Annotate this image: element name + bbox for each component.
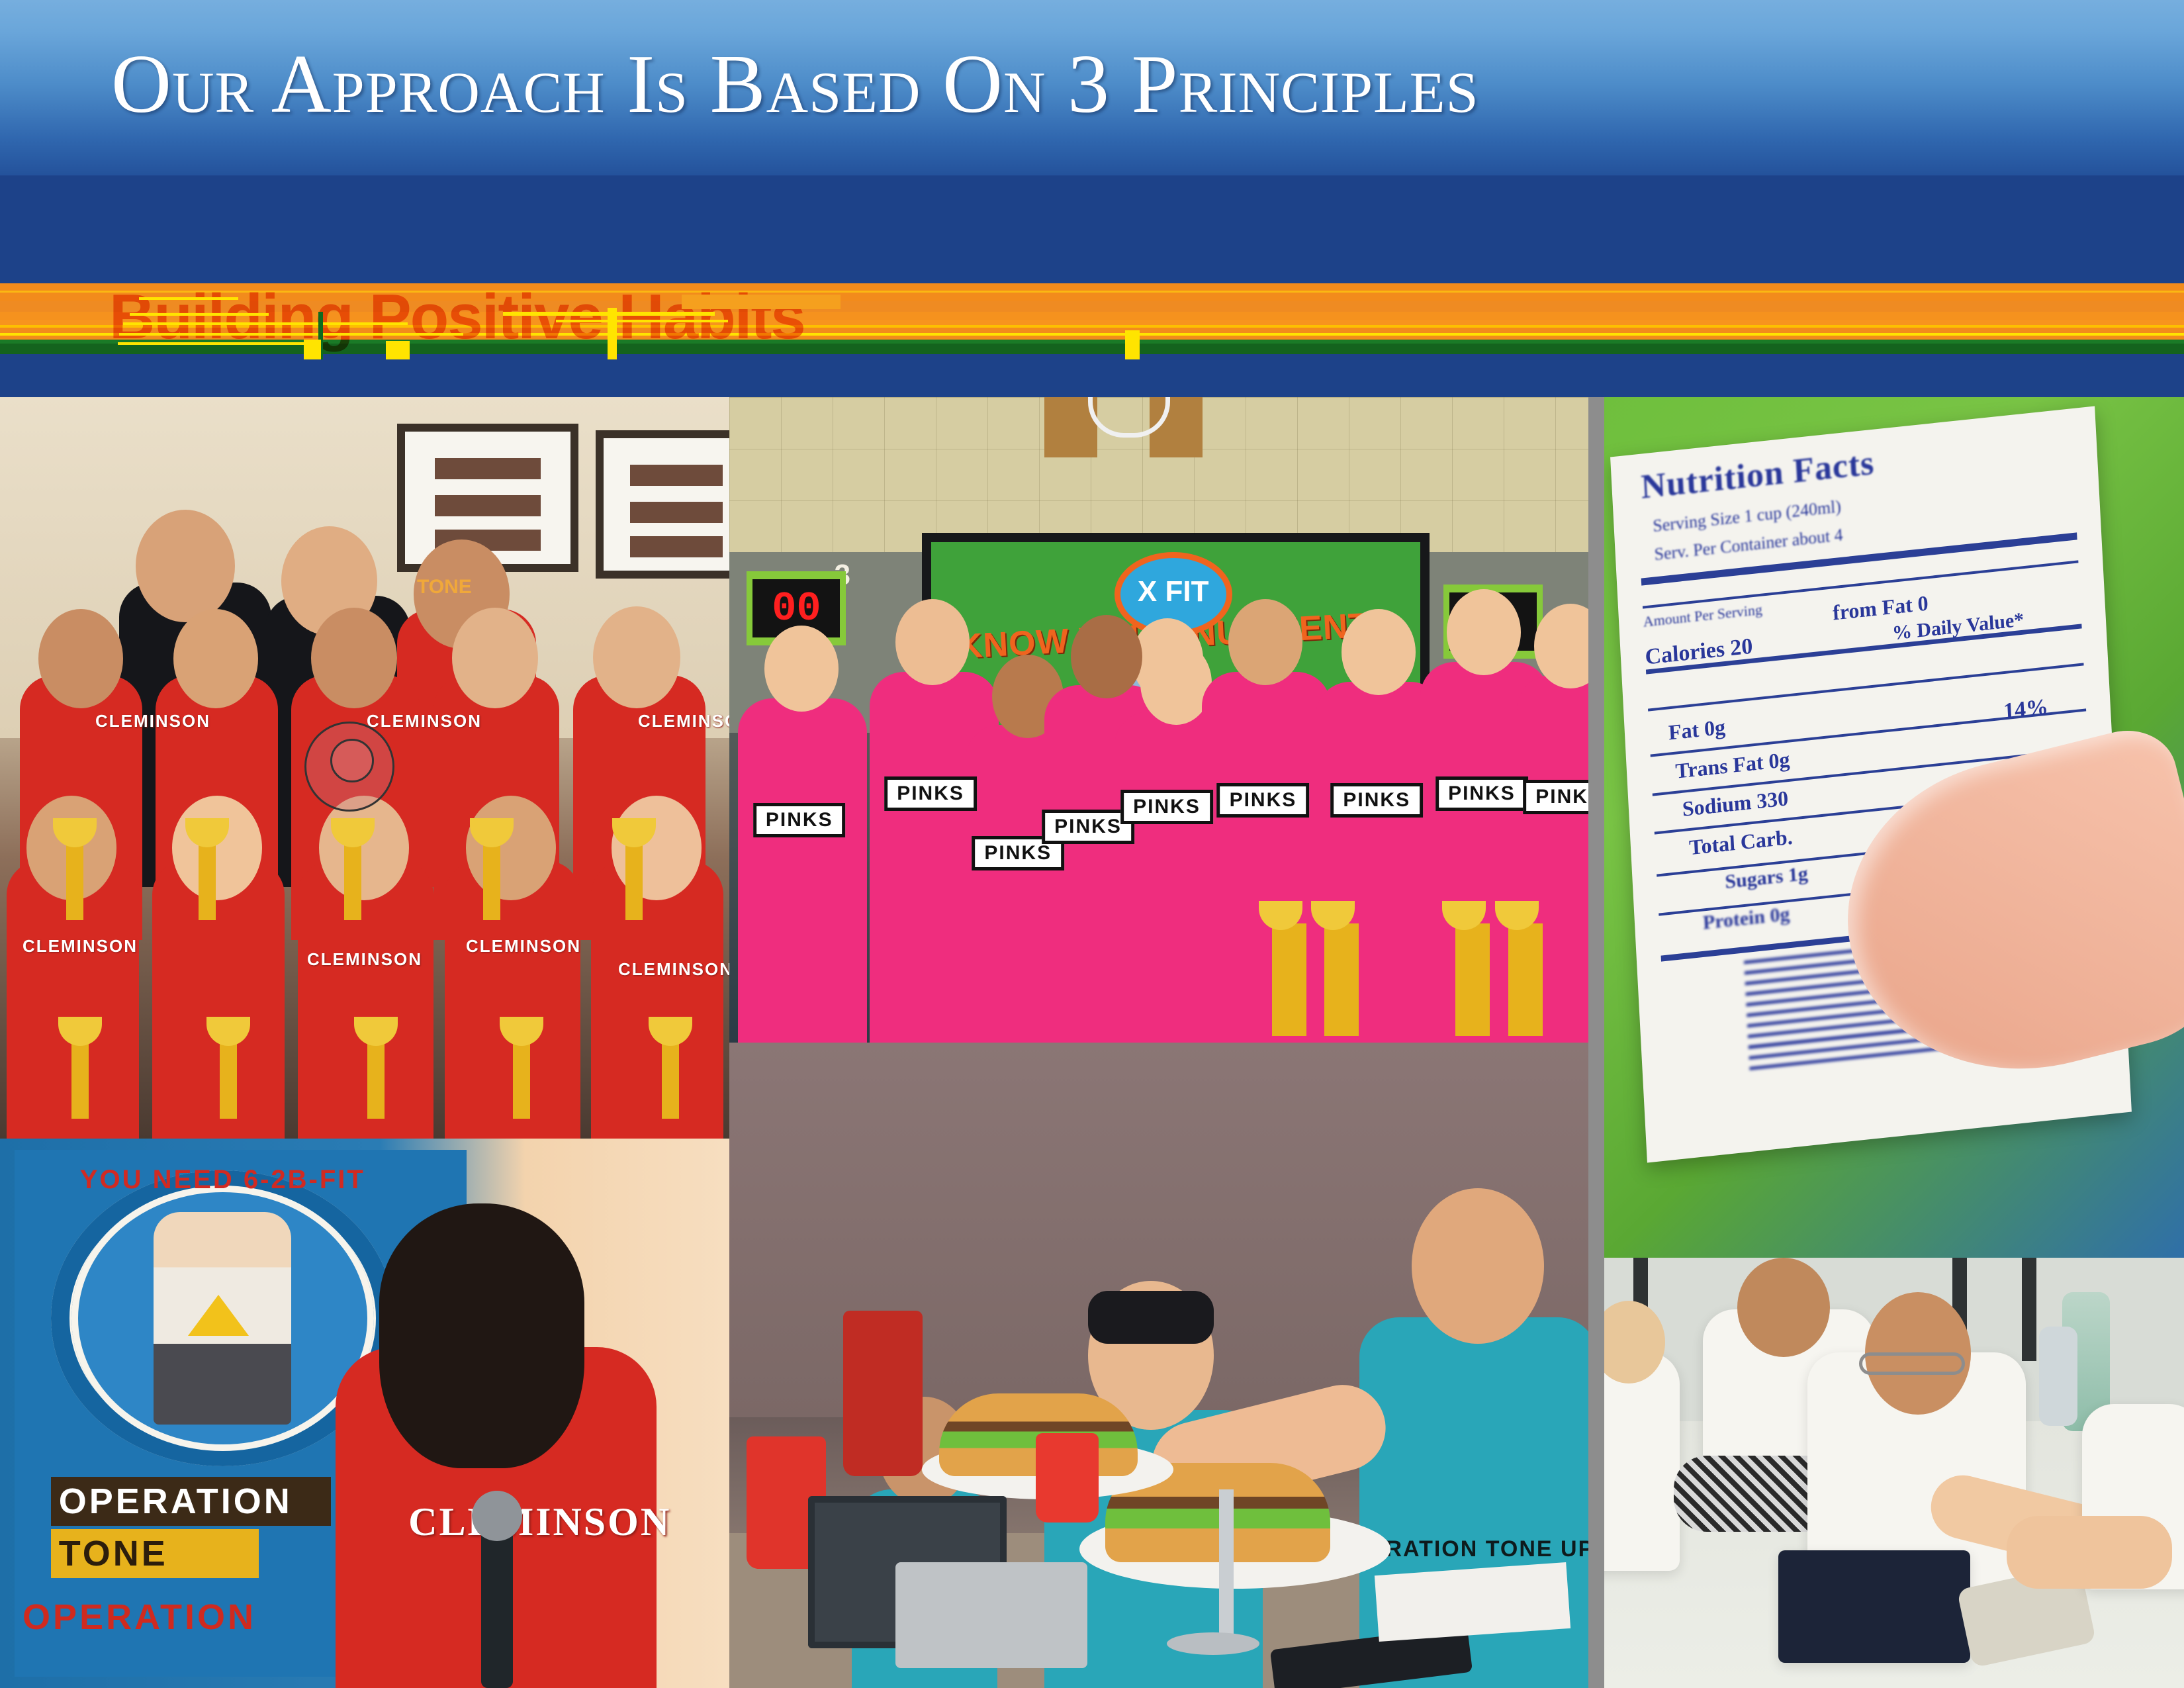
- student-head: [172, 796, 262, 900]
- table-leg: [2022, 1258, 2036, 1361]
- microphone-icon: [481, 1523, 513, 1688]
- scanline-artifact: [130, 313, 269, 316]
- trophy-icon: [483, 841, 500, 920]
- shirt-wordmark: PINKS: [884, 776, 977, 811]
- trophy-icon: [513, 1039, 530, 1119]
- trophy-icon: [1324, 923, 1359, 1036]
- student-head: [1342, 609, 1416, 695]
- trophy-icon: [625, 841, 643, 920]
- shirt-wordmark: PINKS: [753, 803, 846, 837]
- nutrition-row-label: Sodium 330: [1682, 786, 1789, 822]
- shirt-wordmark: CLEMINSON: [86, 708, 220, 734]
- adult-head: [136, 510, 235, 622]
- order-spindle-base: [1167, 1632, 1259, 1655]
- trophy-icon: [344, 841, 361, 920]
- student-leg: [2007, 1516, 2172, 1589]
- student-microphone-poster-photo: YOU NEED 6-2B-FIT OPERATION TONE OPERATI…: [0, 1139, 729, 1688]
- trophy-icon: [66, 841, 83, 920]
- student-head: [1412, 1188, 1544, 1344]
- student-shorts: [1778, 1550, 1970, 1663]
- student-figure: [152, 861, 285, 1139]
- nutrition-facts-label-photo: Nutrition Facts Serving Size 1 cup (240m…: [1604, 397, 2184, 1258]
- shirt-wordmark: CLEMINSON: [609, 957, 729, 982]
- framed-art: [596, 430, 729, 579]
- student-figure: [1604, 1352, 1680, 1571]
- student-head: [1447, 589, 1521, 675]
- student-figure: [1202, 672, 1331, 1043]
- scanline-artifact: [119, 333, 463, 336]
- slide-canvas: Our Approach Is Based On 3 Principles Bu…: [0, 0, 2184, 1688]
- shirt-wordmark: CLEMINSON: [408, 1499, 671, 1545]
- orange-block-artifact: [682, 295, 841, 309]
- trophy-icon: [199, 841, 216, 920]
- student-head: [452, 608, 538, 708]
- student-head: [311, 608, 397, 708]
- shirt-wordmark: PINKS: [1120, 790, 1213, 824]
- cleminson-awards-group-photo: CLEMINSON CLEMINSON CLEMINSON CLEMINSON …: [0, 397, 729, 1139]
- student-head: [173, 609, 258, 708]
- student-figure: [298, 861, 433, 1139]
- trophy-icon: [1272, 923, 1306, 1036]
- shirt-wordmark: CLEMINSON: [13, 933, 147, 959]
- poster-line-1: OPERATION: [51, 1477, 332, 1526]
- student-head: [895, 599, 970, 685]
- poster-arc-text: YOU NEED 6-2B-FIT: [51, 1165, 394, 1195]
- xfit-logo-text: X FIT: [1120, 575, 1226, 608]
- scanline-artifact: [118, 342, 316, 345]
- gym-stretching-photo: [1604, 1258, 2184, 1688]
- nutrition-row-label: Total Carb.: [1688, 825, 1793, 860]
- student-head: [38, 609, 123, 708]
- shirt-wordmark: PINKS: [1330, 783, 1423, 818]
- shirt-wordmark: PINKS: [1217, 783, 1310, 818]
- metal-bin: [895, 1562, 1087, 1668]
- photo-mosaic: CLEMINSON CLEMINSON CLEMINSON CLEMINSON …: [0, 397, 2184, 1688]
- water-bottle: [2039, 1327, 2077, 1426]
- trophy-icon: [1508, 923, 1543, 1036]
- poster-line-2: TONE: [51, 1529, 259, 1578]
- yellow-block-artifact: [608, 308, 617, 359]
- restaurant-burgers-photo: OPERATION TONE UP: [729, 1043, 1604, 1688]
- student-hair: [379, 1203, 584, 1468]
- order-spindle: [1219, 1489, 1234, 1642]
- scanline-artifact: [556, 320, 728, 322]
- lens-flare-artifact: [304, 722, 394, 812]
- yellow-block-artifact: [1125, 330, 1140, 359]
- trophy-icon: [662, 1039, 679, 1119]
- shirt-wordmark: CLEMINSON: [298, 947, 432, 972]
- ketchup-bottle: [843, 1311, 923, 1476]
- shirt-wordmark: CLEMINSON: [357, 708, 491, 734]
- nutrition-row-dv: 14%: [2003, 695, 2049, 725]
- adult-shirt-wordmark: TONE: [417, 576, 472, 598]
- mosaic-gap: [1588, 1258, 1604, 1688]
- shirt-wordmark: CLEMINSON: [457, 933, 590, 959]
- student-head: [593, 606, 680, 708]
- eyeglasses-icon: [1859, 1352, 1965, 1375]
- student-head: [1071, 615, 1142, 698]
- pinks-team-gym-photo: 3 6 KNOW YOUR NUTRIENTS X FIT 2B 00 00: [729, 397, 1604, 1043]
- trophy-icon: [220, 1039, 237, 1119]
- subtitle-band: Building Positive Habits: [0, 175, 2184, 397]
- student-figure: [738, 698, 867, 1043]
- sunglasses-icon: [1088, 1291, 1214, 1344]
- star-icon: [188, 1295, 249, 1336]
- scanline-artifact: [123, 322, 408, 325]
- yellow-block-artifact: [304, 340, 321, 359]
- trophy-icon: [367, 1039, 385, 1119]
- nutrition-row-label: Fat 0g: [1668, 715, 1726, 745]
- trophy-icon: [1455, 923, 1490, 1036]
- shirt-wordmark: CLEMINSON: [629, 708, 729, 734]
- paper-worksheet: [1375, 1562, 1570, 1642]
- trophy-icon: [71, 1039, 89, 1119]
- student-head: [319, 796, 409, 900]
- student-head: [1737, 1258, 1830, 1357]
- page-title: Our Approach Is Based On 3 Principles: [111, 41, 1479, 128]
- student-head: [466, 796, 556, 900]
- student-head: [1228, 599, 1302, 685]
- scanline-artifact: [139, 297, 238, 300]
- ketchup-bottle: [1036, 1433, 1099, 1523]
- yellow-block-artifact: [386, 341, 410, 359]
- subtitle-text: Building Positive Habits: [109, 281, 805, 357]
- mosaic-gap: [1588, 397, 1604, 1258]
- shirt-wordmark: PINKS: [1435, 776, 1528, 811]
- glitched-subtitle-region: Building Positive Habits: [0, 281, 2184, 361]
- student-head: [764, 626, 839, 712]
- student-figure: [591, 861, 723, 1139]
